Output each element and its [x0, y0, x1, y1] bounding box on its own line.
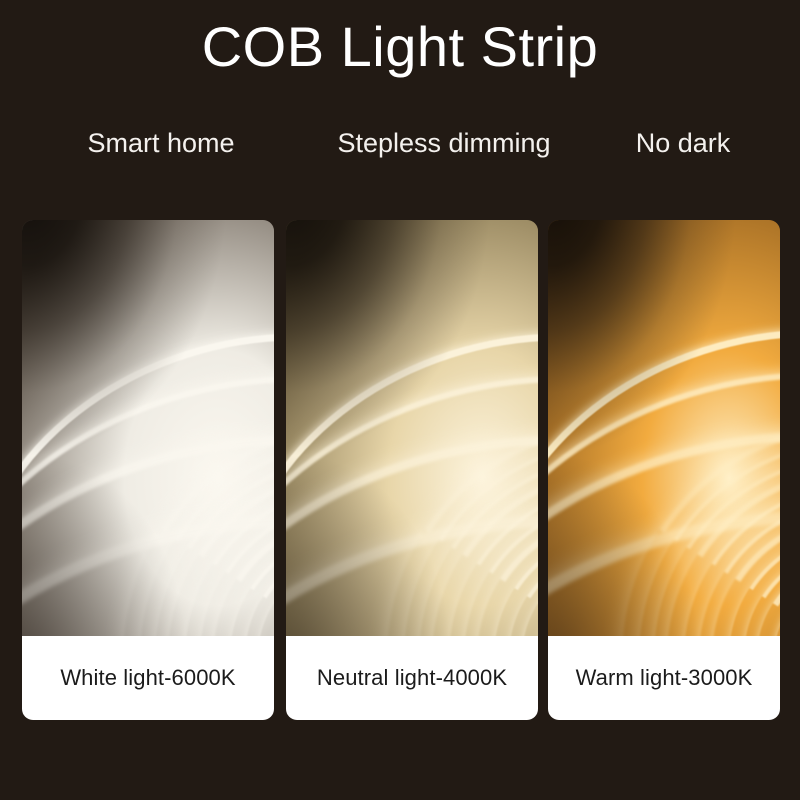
card-caption-text: Warm light-3000K — [576, 665, 753, 691]
bottom-shadow-overlay — [548, 220, 780, 636]
warm-white-cob-led-strip-reel-photo — [548, 220, 780, 636]
neutral-white-cob-led-strip-reel-photo — [286, 220, 538, 636]
product-card-white-light[interactable]: White light-6000K — [22, 220, 274, 720]
card-caption-text: Neutral light-4000K — [317, 665, 507, 691]
bottom-shadow-overlay — [22, 220, 274, 636]
cool-white-cob-led-strip-reel-photo — [22, 220, 274, 636]
card-caption-bar: Neutral light-4000K — [286, 636, 538, 720]
card-caption-bar: Warm light-3000K — [548, 636, 780, 720]
product-card-warm-light[interactable]: Warm light-3000K — [548, 220, 780, 720]
product-panel-row: White light-6000K Neutral light-4000K — [0, 0, 800, 800]
product-card-neutral-light[interactable]: Neutral light-4000K — [286, 220, 538, 720]
bottom-shadow-overlay — [286, 220, 538, 636]
card-caption-text: White light-6000K — [60, 665, 235, 691]
product-banner: COB Light Strip Smart home Stepless dimm… — [0, 0, 800, 800]
card-caption-bar: White light-6000K — [22, 636, 274, 720]
